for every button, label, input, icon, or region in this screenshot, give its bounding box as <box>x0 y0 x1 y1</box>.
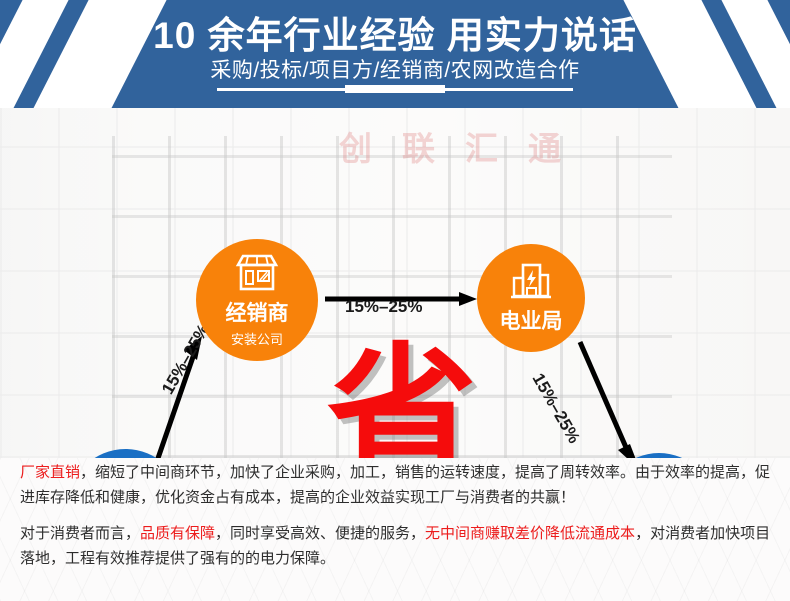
node-power-bureau[interactable]: 电业局 <box>477 244 585 352</box>
paragraph-one-highlight: 厂家直销 <box>20 464 80 481</box>
center-character-save: 省 <box>322 342 482 458</box>
header-subtitle: 采购/投标/项目方/经销商/农网改造合作 <box>0 58 790 84</box>
arrow-bureau-to-consumer <box>576 340 642 458</box>
shop-icon <box>234 253 280 293</box>
header-band: 10 余年行业经验 用实力说话 采购/投标/项目方/经销商/农网改造合作 <box>0 0 790 108</box>
paragraph-two-highlight-quality: 品质有保障 <box>140 525 215 542</box>
paragraph-two-lead: 对于消费者而言， <box>20 525 140 542</box>
promo-banner: 10 余年行业经验 用实力说话 采购/投标/项目方/经销商/农网改造合作 创联汇… <box>0 0 790 601</box>
watermark-text: 创联汇通 <box>255 122 675 170</box>
node-dealer-label: 经销商 <box>226 297 289 327</box>
paragraph-one: 厂家直销，缩短了中间商环节，加快了企业采购，加工，销售的运转速度，提高了周转效率… <box>20 460 772 510</box>
node-power-bureau-label: 电业局 <box>500 305 563 335</box>
paragraph-two: 对于消费者而言，品质有保障，同时享受高效、便捷的服务，无中间商赚取差价降低流通成… <box>20 521 772 571</box>
edge-label-dealer-bureau: 15%–25% <box>345 297 423 317</box>
header-title: 10 余年行业经验 用实力说话 <box>0 14 790 58</box>
flow-diagram: 创联汇通 15%–25% 15%–25% 15%–25% 省 <box>0 108 790 458</box>
node-dealer-sublabel: 安装公司 <box>231 329 283 348</box>
paragraph-one-body: ，缩短了中间商环节，加快了企业采购，加工，销售的运转速度，提高了周转效率。由于效… <box>20 464 770 506</box>
power-building-icon <box>509 262 553 302</box>
paragraph-two-highlight-nomiddleman: 无中间商赚取差价降低流通成本 <box>425 525 635 542</box>
paragraph-two-mid: ，同时享受高效、便捷的服务， <box>215 525 425 542</box>
header-divider-center <box>345 85 445 93</box>
node-dealer[interactable]: 经销商 安装公司 <box>196 239 318 361</box>
